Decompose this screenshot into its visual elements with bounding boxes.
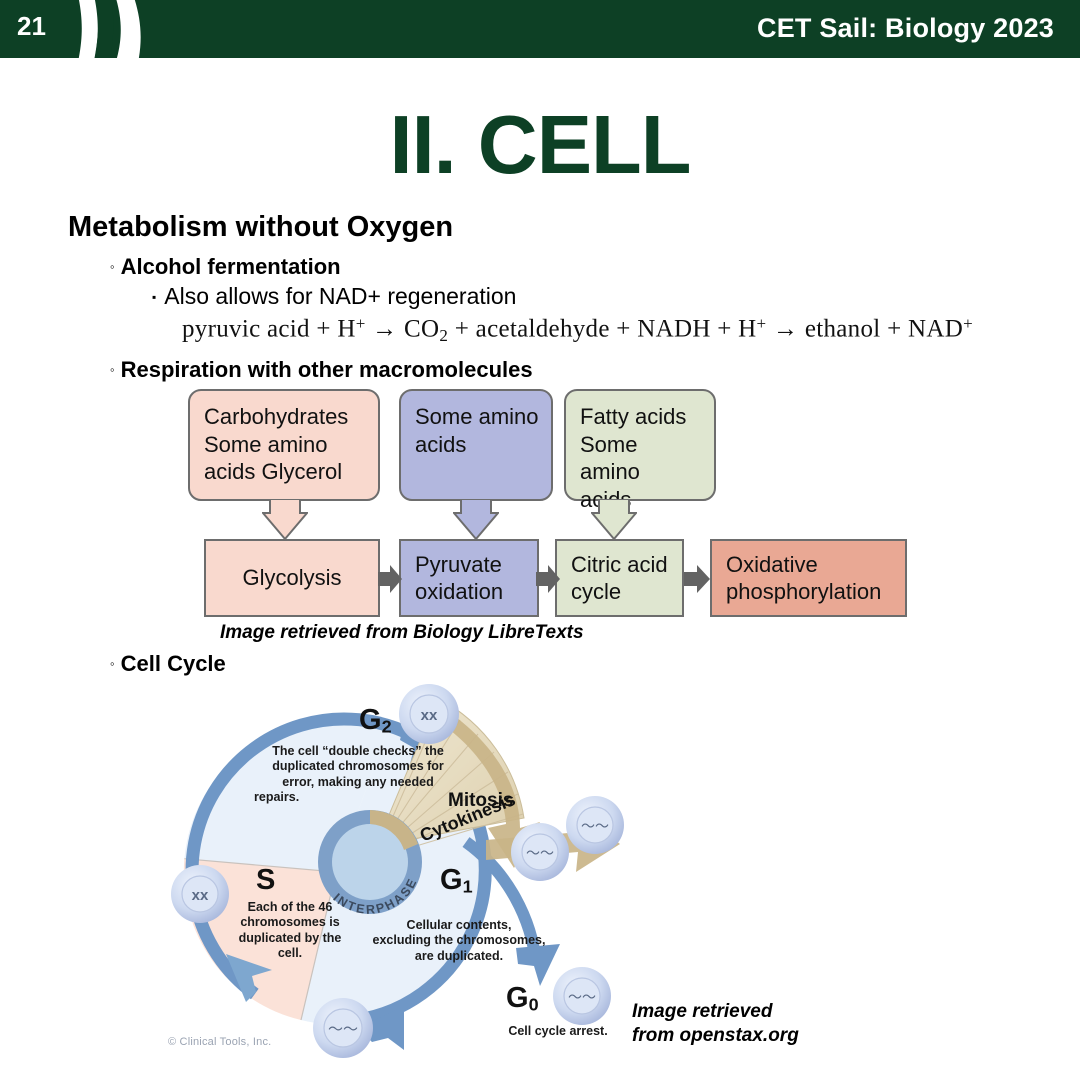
arrow-right-pyruvate-to-citric-icon [536, 565, 560, 593]
phase-label-s: S [256, 864, 275, 897]
stage-box-citric-acid-cycle: Citric acidcycle [555, 539, 684, 617]
header-title: CET Sail: Biology 2023 [757, 13, 1054, 44]
hollow-bullet-icon: ◦ [110, 362, 115, 377]
phase-desc-g0: Cell cycle arrest. [492, 1024, 624, 1039]
input-box-carbohydrates: Carbohydrates Some amino acids Glycerol [188, 389, 380, 501]
svg-text:xx: xx [421, 707, 438, 724]
hollow-bullet-icon: ◦ [110, 259, 115, 274]
slide-title: II. CELL [0, 97, 1080, 193]
svg-text:xx: xx [192, 887, 209, 904]
bullet-alcohol-fermentation: ◦Alcohol fermentation [110, 254, 341, 280]
arrow-down-to-citric-icon [591, 499, 637, 542]
phase-desc-g2: The cell “double checks” the duplicated … [248, 744, 468, 805]
arrow-right-citric-to-oxidative-icon [684, 565, 710, 593]
bullet-respiration-macromolecules: ◦Respiration with other macromolecules [110, 357, 533, 383]
svg-text:～～: ～～ [328, 1021, 358, 1038]
svg-text:～～: ～～ [581, 818, 609, 834]
libretexts-caption: Image retrieved from Biology LibreTexts [220, 622, 584, 644]
square-bullet-icon: ▪ [152, 290, 156, 304]
fermentation-equation: pyruvic acid + H+ → CO2 + acetaldehyde +… [182, 314, 973, 346]
clinical-tools-copyright: © Clinical Tools, Inc. [168, 1036, 271, 1048]
phase-label-g0: G0 [506, 982, 539, 1016]
section-heading: Metabolism without Oxygen [68, 211, 453, 244]
page-header: 21 CET Sail: Biology 2023 [0, 0, 1080, 58]
stage-box-oxidative-phosphorylation: Oxidativephosphorylation [710, 539, 907, 617]
phase-label-g1: G1 [440, 864, 473, 898]
input-box-amino-acids: Some amino acids [399, 389, 553, 501]
svg-text:～～: ～～ [568, 989, 596, 1005]
svg-text:～～: ～～ [526, 845, 554, 861]
metabolism-diagram: Carbohydrates Some amino acids Glycerol … [186, 389, 912, 630]
arrow-right-glycolysis-to-pyruvate-icon [378, 565, 402, 593]
arrow-down-to-glycolysis-icon [262, 499, 308, 542]
page-number: 21 [17, 11, 46, 42]
input-box-fatty-acids: Fatty acids Some amino acids [564, 389, 716, 501]
phase-label-g2: G2 [359, 704, 392, 738]
hollow-bullet-icon: ◦ [110, 656, 115, 671]
sail-decoration-icon [60, 0, 180, 58]
phase-desc-g1: Cellular contents, excluding the chromos… [354, 918, 564, 964]
openstax-attribution: Image retrieved from openstax.org [632, 1000, 799, 1049]
bullet-nad-regeneration: ▪Also allows for NAD+ regeneration [152, 283, 516, 310]
phase-desc-s: Each of the 46 chromosomes is duplicated… [212, 900, 368, 961]
stage-box-pyruvate-oxidation: Pyruvateoxidation [399, 539, 539, 617]
arrow-down-to-pyruvate-icon [453, 499, 499, 542]
stage-box-glycolysis: Glycolysis [204, 539, 380, 617]
